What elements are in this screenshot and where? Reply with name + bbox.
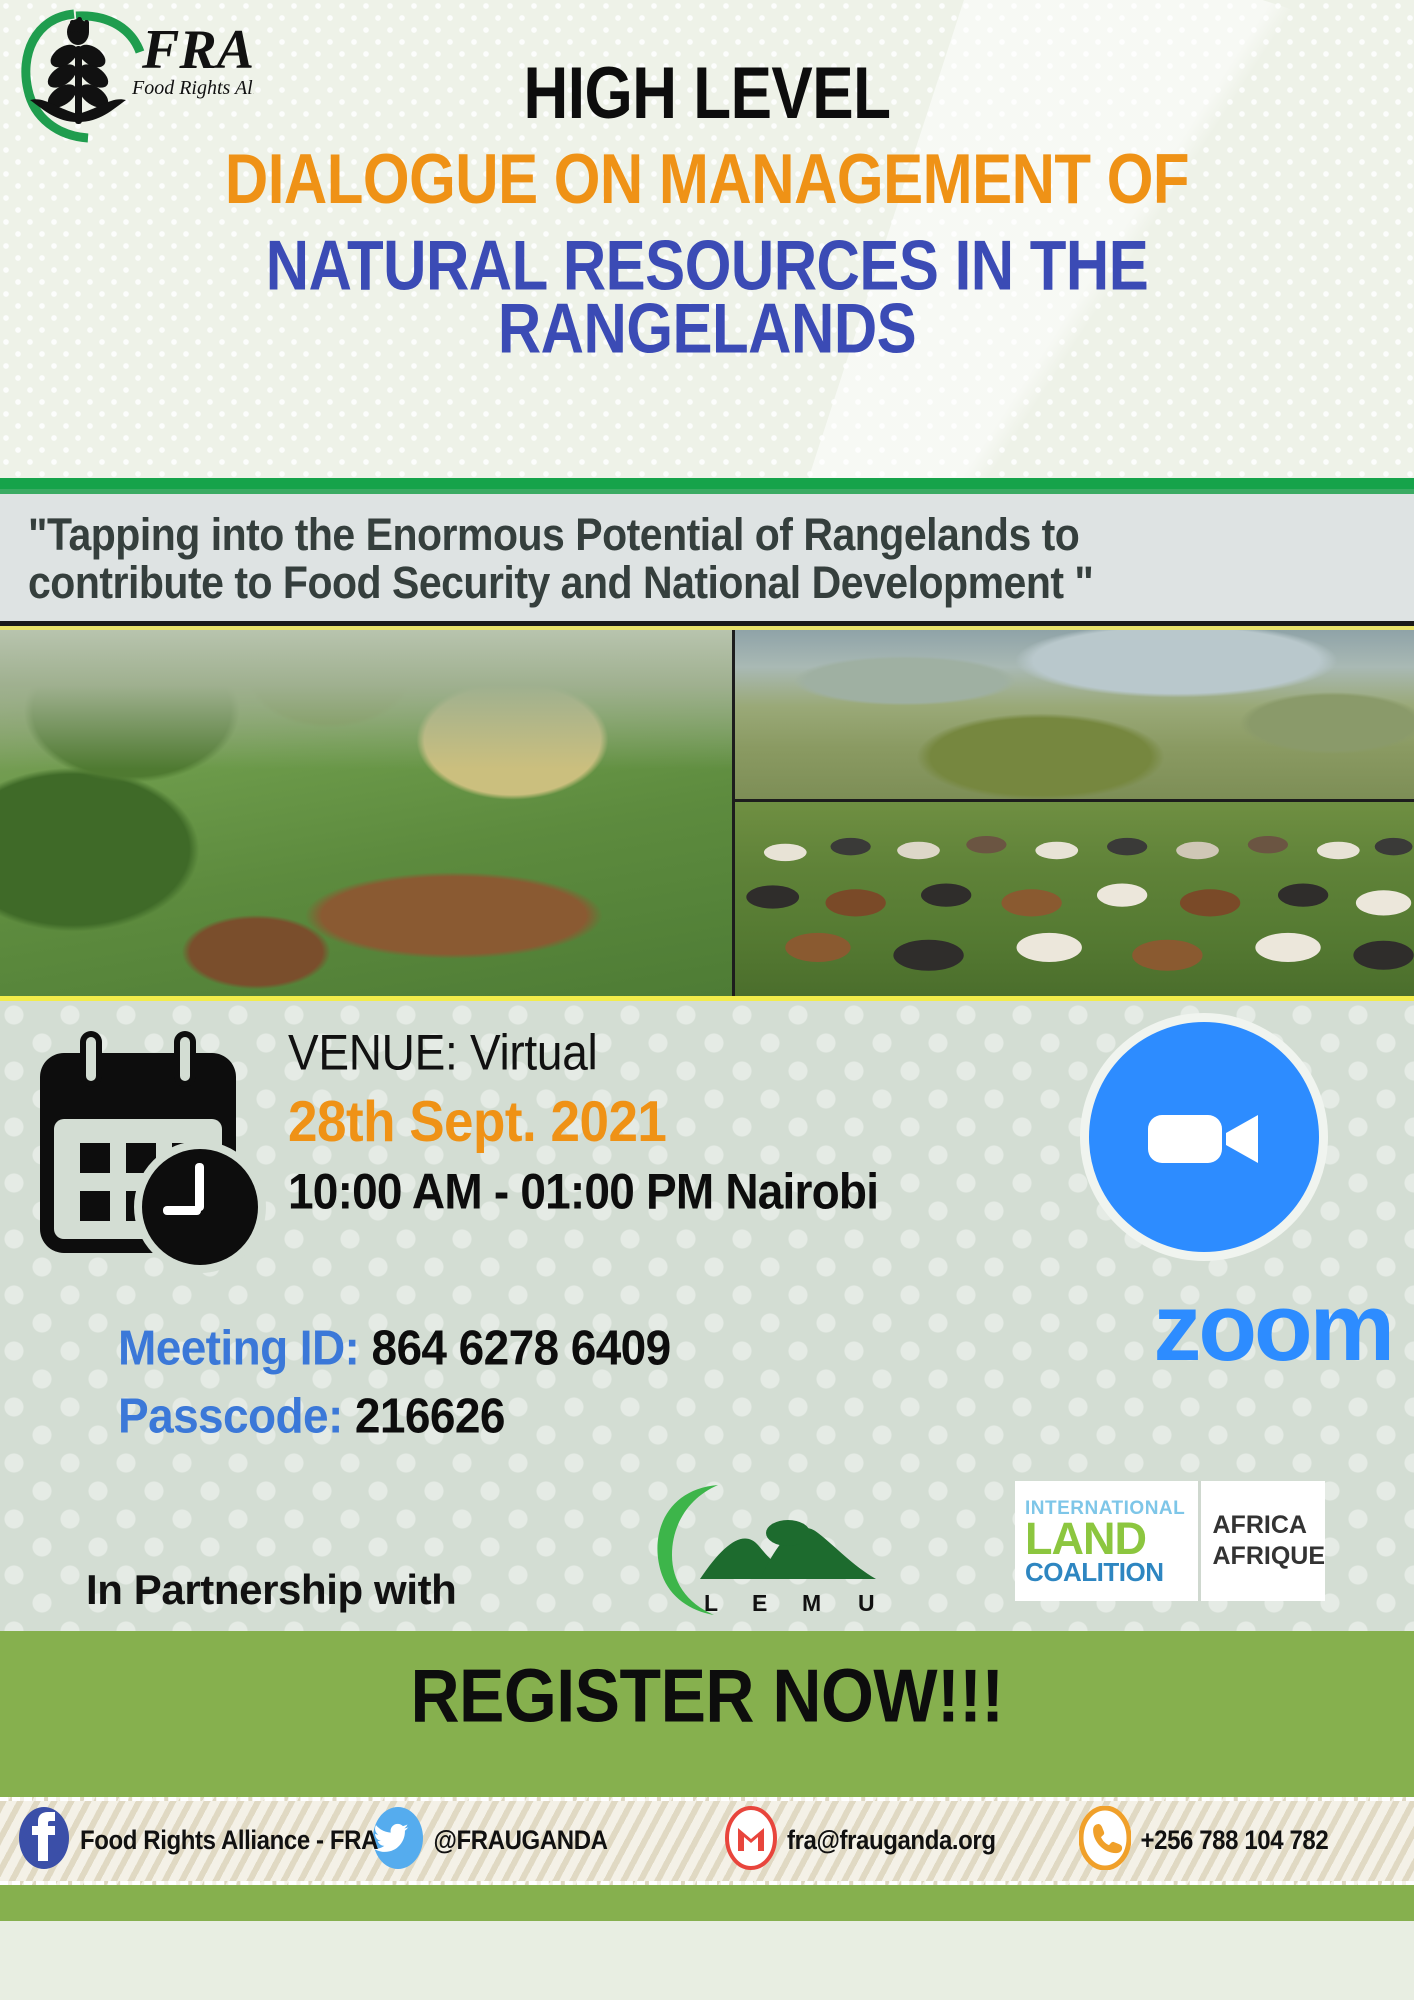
calendar-clock-icon [28,1023,278,1273]
gmail-icon [725,1806,777,1875]
contact-footer: Food Rights Alliance - FRA @FRAUGANDA fr… [0,1761,1414,1921]
svg-text:Food Rights Alliance: Food Rights Alliance [131,77,254,99]
phone-icon [1079,1806,1131,1875]
twitter-handle: @FRAUGANDA [434,1825,608,1856]
meeting-credentials: Meeting ID: 864 6278 6409 Passcode: 2166… [118,1319,671,1455]
twitter-icon [372,1806,424,1875]
register-now-text: REGISTER NOW!!! [410,1653,1003,1739]
event-details-section: VENUE: Virtual 28th Sept. 2021 10:00 AM … [0,1001,1414,1631]
contact-phone[interactable]: +256 788 104 782 [1061,1806,1414,1875]
svg-text:L: L [704,1590,718,1616]
green-divider [0,478,1414,494]
photo-grazing-herd [735,802,1414,996]
svg-text:FRA: FRA [141,19,254,81]
quote-line-2: contribute to Food Security and National… [14,556,1400,609]
event-time: 10:00 AM - 01:00 PM Nairobi [288,1162,878,1220]
contact-facebook[interactable]: Food Rights Alliance - FRA [0,1806,354,1875]
meeting-id-label: Meeting ID: [118,1320,359,1375]
photo-wetland [735,630,1414,802]
meeting-id-row: Meeting ID: 864 6278 6409 [118,1319,671,1376]
ilc-coalition-text: COALITION [1025,1559,1190,1585]
lemu-logo: L E M U [640,1471,930,1621]
ilc-africa-text: AFRICA [1213,1510,1307,1541]
svg-text:U: U [858,1590,875,1616]
meeting-id-value: 864 6278 6409 [371,1320,670,1375]
facebook-icon [18,1806,70,1875]
contact-twitter[interactable]: @FRAUGANDA [354,1806,708,1875]
quote-banner: "Tapping into the Enormous Potential of … [0,494,1414,626]
photo-hillside-farmland [0,630,735,996]
svg-text:M: M [802,1590,821,1616]
facebook-handle: Food Rights Alliance - FRA [80,1825,378,1856]
zoom-camera-icon [1080,1013,1328,1261]
passcode-value: 216626 [355,1388,505,1443]
event-date: 28th Sept. 2021 [288,1089,878,1155]
quote-line-1: "Tapping into the Enormous Potential of … [14,508,1400,561]
partnership-label: In Partnership with [86,1566,456,1614]
ilc-land-text: LAND [1025,1518,1190,1559]
title-line-dialogue: DIALOGUE ON MANAGEMENT OF [0,144,1414,215]
contact-email[interactable]: fra@frauganda.org [707,1806,1061,1875]
photo-strip [0,626,1414,1001]
register-banner[interactable]: REGISTER NOW!!! [0,1631,1414,1761]
svg-text:E: E [752,1590,767,1616]
passcode-label: Passcode: [118,1388,343,1443]
title-line-rangelands: RANGELANDS [0,291,1414,365]
poster-header: FRA Food Rights Alliance HIGH LEVEL DIAL… [0,0,1414,478]
zoom-wordmark: zoom [1153,1273,1392,1383]
ilc-afrique-text: AFRIQUE [1213,1541,1326,1572]
email-address: fra@frauganda.org [787,1825,996,1856]
fra-logo: FRA Food Rights Alliance [14,4,254,144]
venue-date-time-column: VENUE: Virtual 28th Sept. 2021 10:00 AM … [288,1023,878,1216]
passcode-row: Passcode: 216626 [118,1387,671,1444]
ilc-logo: INTERNATIONAL LAND COALITION AFRICA AFRI… [1015,1481,1325,1601]
venue-text: VENUE: Virtual [288,1023,878,1081]
phone-number: +256 788 104 782 [1141,1825,1329,1856]
herd-animals-illustration [735,802,1414,996]
